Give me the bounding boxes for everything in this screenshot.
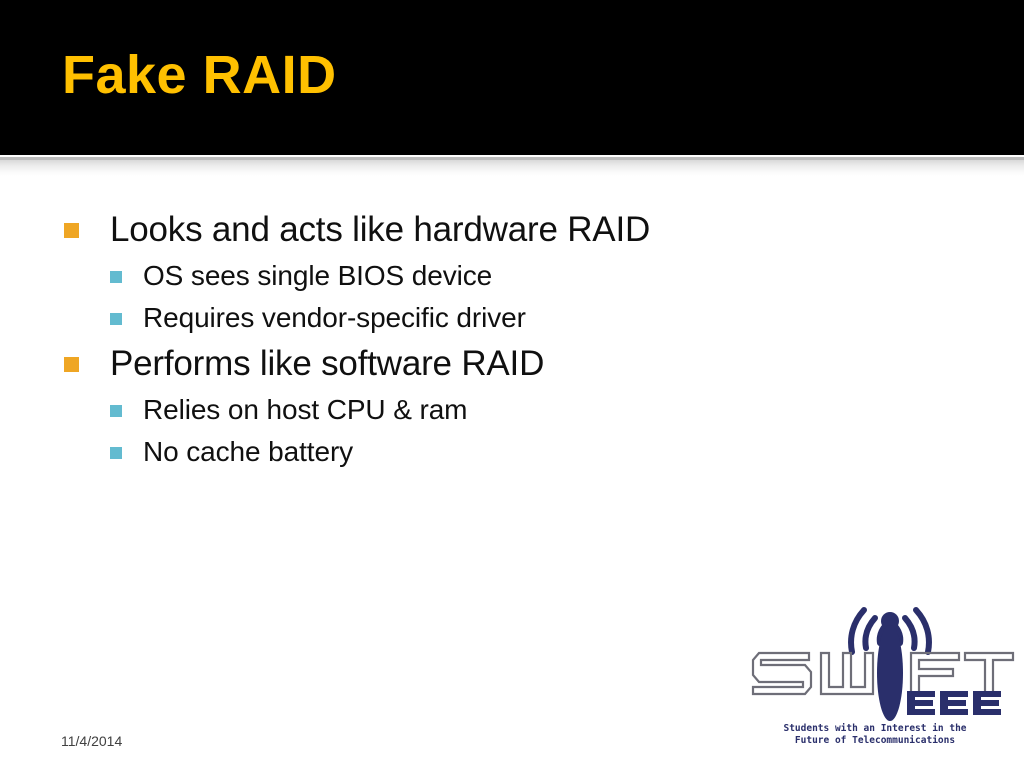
slide-canvas: Fake RAID Looks and acts like hardware R… — [0, 0, 1024, 768]
title-banner: Fake RAID — [0, 0, 1024, 155]
logo-tagline-line1: Students with an Interest in the — [735, 723, 1015, 735]
slide-date: 11/4/2014 — [61, 733, 122, 749]
bullet-marker-level2-icon — [110, 405, 122, 417]
logo-eee-text — [907, 691, 1001, 715]
banner-drop-shadow — [0, 160, 1024, 176]
list-item: Performs like software RAID — [64, 340, 1024, 390]
logo-tagline: Students with an Interest in the Future … — [735, 723, 1015, 747]
bullet-marker-level1-icon — [64, 223, 79, 238]
page-title: Fake RAID — [62, 46, 337, 105]
logo-tagline-line2: Future of Telecommunications — [735, 735, 1015, 747]
list-item-label: Relies on host CPU & ram — [143, 390, 467, 430]
list-item: OS sees single BIOS device — [110, 256, 1024, 298]
bullet-list: Looks and acts like hardware RAID OS see… — [0, 206, 1024, 474]
bullet-marker-level2-icon — [110, 271, 122, 283]
antenna-tower-icon — [877, 625, 903, 721]
bullet-marker-level2-icon — [110, 313, 122, 325]
list-item-label: OS sees single BIOS device — [143, 256, 492, 296]
bullet-marker-level2-icon — [110, 447, 122, 459]
swift-logo-graphic — [735, 583, 1015, 728]
bullet-marker-level1-icon — [64, 357, 79, 372]
list-item: No cache battery — [110, 432, 1024, 474]
list-item-label: No cache battery — [143, 432, 353, 472]
list-item: Relies on host CPU & ram — [110, 390, 1024, 432]
swift-logo: Students with an Interest in the Future … — [735, 583, 1015, 753]
list-item: Looks and acts like hardware RAID — [64, 206, 1024, 256]
list-item-label: Requires vendor-specific driver — [143, 298, 526, 338]
list-item-label: Performs like software RAID — [110, 340, 544, 388]
list-item: Requires vendor-specific driver — [110, 298, 1024, 340]
list-item-label: Looks and acts like hardware RAID — [110, 206, 650, 254]
